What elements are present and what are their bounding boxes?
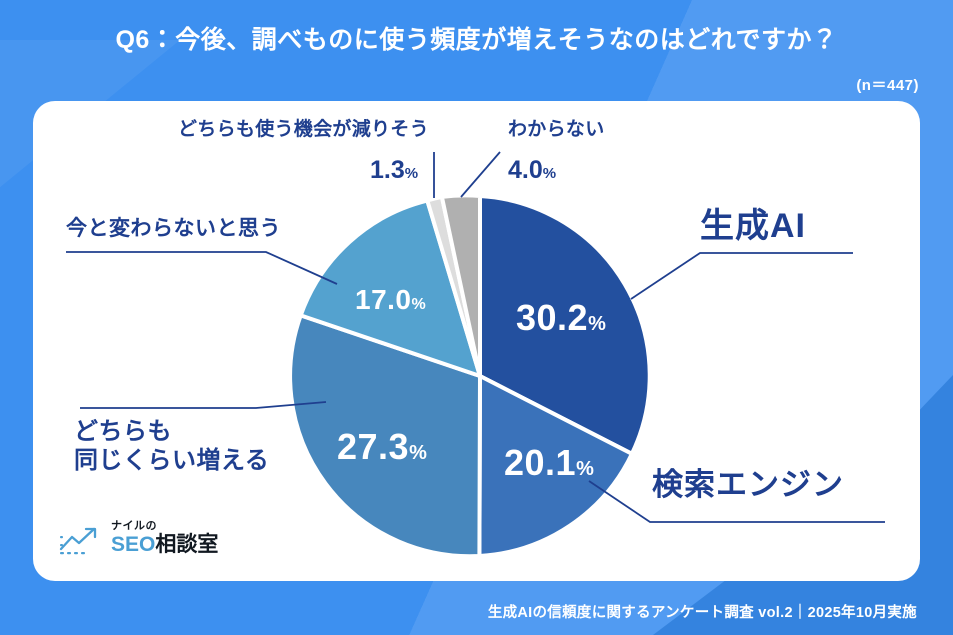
value-unit: % [588,313,606,335]
value-number: 30.2 [516,297,588,338]
logo-wordmark: ナイルの SEO相談室 [111,521,218,555]
value-label-dochiramo-onaji: 27.3% [337,426,427,468]
line-chart-arrow-icon [58,525,104,555]
callout-label-seiseiai: 生成AI [700,206,806,247]
callout-label-ima-to-kawaranai: 今と変わらないと思う [66,216,281,242]
value-number: 1.3 [370,156,405,184]
leader-line-wakaranai [461,152,500,197]
brand-logo: ナイルの SEO相談室 [58,521,218,555]
value-number: 27.3 [337,426,409,467]
value-label-seiseiai: 30.2% [516,297,606,339]
value-unit: % [405,165,418,182]
leader-line-dochiramo-onaji [80,402,326,408]
callout-label-wakaranai: わからない [508,118,605,141]
value-unit: % [409,442,427,464]
value-number: 4.0 [508,156,543,184]
logo-soudanshitsu-text: 相談室 [155,533,218,556]
value-number: 20.1 [504,442,576,483]
logo-main-text: SEO相談室 [111,534,218,555]
callout-label-dochiramo-herisou: どちらも使う機会が減りそう [178,118,429,141]
value-unit: % [543,165,556,182]
value-number: 17.0 [355,284,412,315]
leader-line-ima-to-kawaranai [66,252,337,284]
value-label-ima-to-kawaranai: 17.0% [355,284,426,316]
value-unit: % [576,458,594,480]
footer-source-note: 生成AIの信頼度に関するアンケート調査 vol.2｜2025年10月実施 [488,601,917,622]
pie-slices [290,195,650,556]
callout-label-kensaku-engine: 検索エンジン [652,466,844,504]
logo-kicker-text: ナイルの [111,521,218,532]
value-label-dochiramo-herisou: 1.3% [370,156,418,185]
logo-seo-text: SEO [111,533,155,556]
slide-canvas: Q6：今後、調べものに使う頻度が増えそうなのはどれですか？ (n＝447) [0,0,953,635]
value-label-kensaku-engine: 20.1% [504,442,594,484]
value-label-wakaranai: 4.0% [508,156,556,185]
leader-line-seiseiai [631,253,853,299]
callout-label-dochiramo-onaji: どちらも 同じくらい増える [74,417,269,476]
value-unit: % [412,296,426,313]
